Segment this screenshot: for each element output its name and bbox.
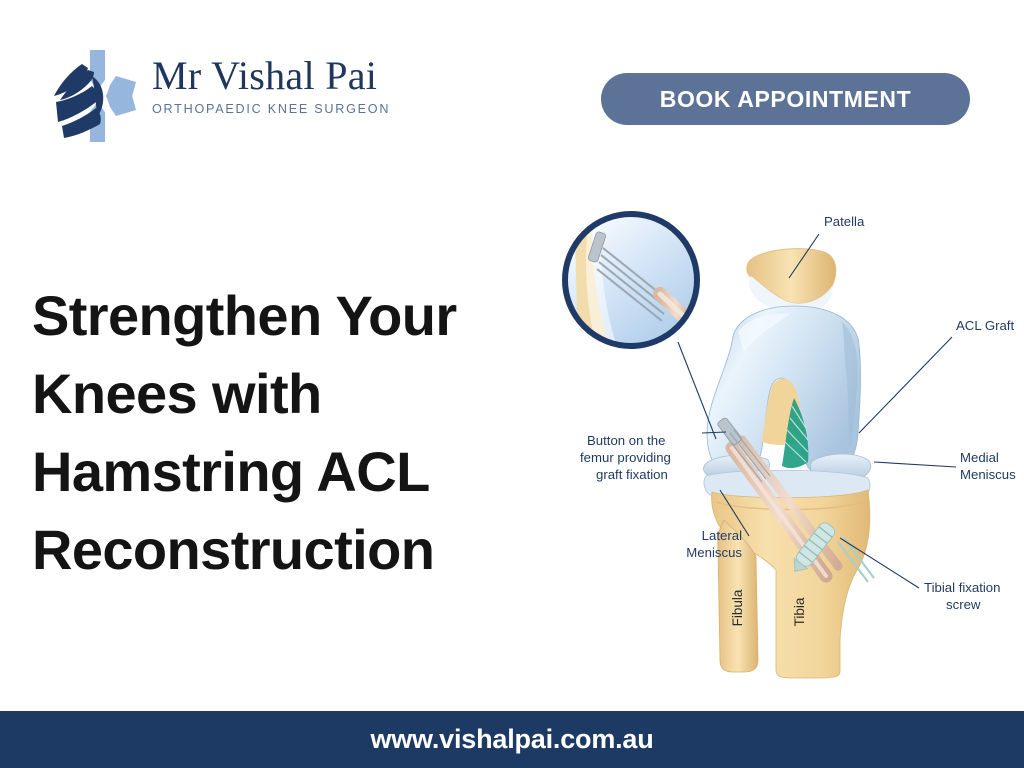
book-appointment-button[interactable]: BOOK APPOINTMENT [601, 73, 970, 125]
label-patella: Patella [824, 214, 865, 229]
label-medial-meniscus-line2: Meniscus [960, 467, 1016, 482]
brand-tagline: ORTHOPAEDIC KNEE SURGEON [152, 102, 382, 116]
label-tibia: Tibia [792, 597, 807, 626]
label-tibial-screw-line1: Tibial fixation [924, 580, 1000, 595]
label-button-femur-line1: Button on the [587, 433, 665, 448]
label-tibial-screw-line2: screw [946, 597, 981, 612]
knee-star-of-life-logo-icon [48, 50, 144, 142]
brand-name: Mr Vishal Pai [152, 54, 382, 98]
label-fibula: Fibula [730, 589, 745, 626]
magnifier-circle-inset-icon [565, 206, 697, 346]
label-button-femur-line2: femur providing [580, 450, 671, 465]
website-url[interactable]: www.vishalpai.com.au [370, 724, 653, 755]
page-title: Strengthen Your Knees with Hamstring ACL… [32, 277, 552, 589]
poster-canvas: Mr Vishal Pai ORTHOPAEDIC KNEE SURGEON B… [0, 0, 1024, 768]
label-medial-meniscus-line1: Medial [960, 450, 999, 465]
label-acl-graft: ACL Graft [956, 318, 1014, 333]
label-lateral-meniscus-line1: Lateral [702, 528, 742, 543]
label-button-femur-line3: graft fixation [596, 467, 668, 482]
patella-shape [747, 249, 836, 314]
brand-logo-text: Mr Vishal Pai ORTHOPAEDIC KNEE SURGEON [152, 54, 382, 116]
knee-anatomy-illustration: Patella ACL Graft Medial Meniscus Button… [556, 190, 1024, 690]
footer-bar: www.vishalpai.com.au [0, 711, 1024, 768]
brand-logo[interactable]: Mr Vishal Pai ORTHOPAEDIC KNEE SURGEON [48, 48, 388, 144]
label-lateral-meniscus-line2: Meniscus [686, 545, 742, 560]
